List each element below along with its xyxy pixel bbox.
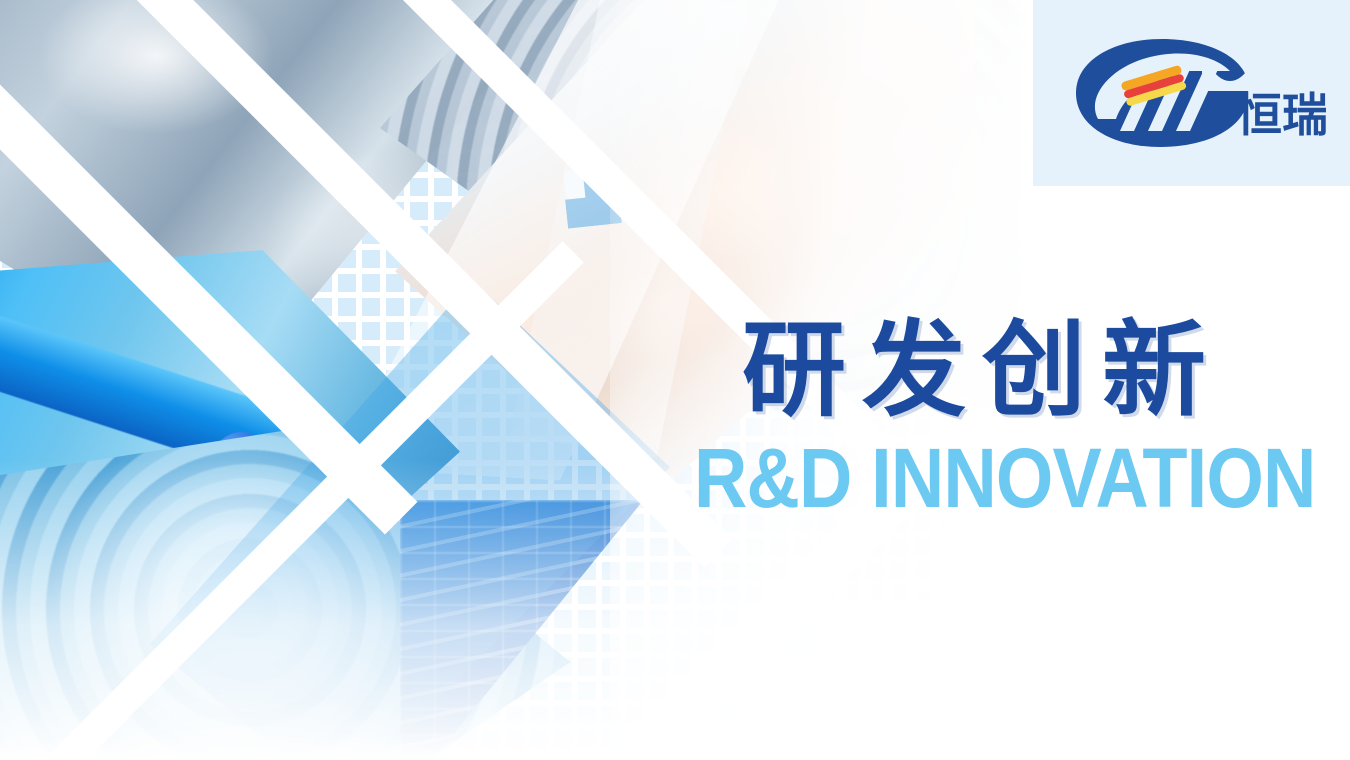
logo-brand-text: 恒瑞 <box>1236 88 1326 142</box>
headline-title-chinese: 研发创新 <box>742 318 1342 422</box>
hengrui-logo-icon: 恒瑞 <box>1058 33 1326 153</box>
headline-title-english: R&D INNOVATION <box>694 436 1264 520</box>
logo-wrap: 恒瑞 恒瑞 <box>1058 33 1326 153</box>
rd-innovation-banner: 恒瑞 恒瑞 研发创新 R&D INNOVATION <box>0 0 1350 760</box>
logo-panel: 恒瑞 恒瑞 <box>1033 0 1350 186</box>
headline-block: 研发创新 R&D INNOVATION <box>742 318 1342 520</box>
